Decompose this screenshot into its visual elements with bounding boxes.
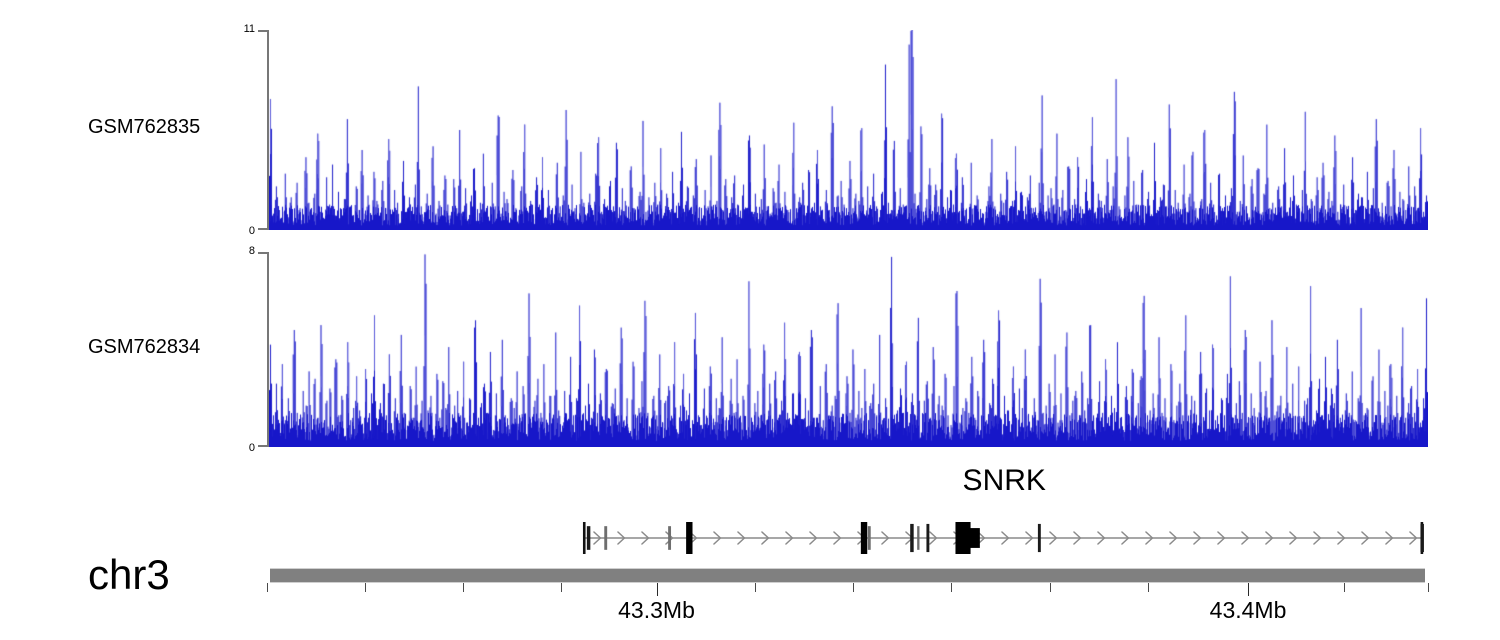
signal-track-gsm762835: 11 0 <box>267 30 1428 230</box>
track-label-gsm762835: GSM762835 <box>88 116 200 139</box>
gene-exon-block[interactable] <box>868 526 871 550</box>
track-y-axis-tick-top <box>258 252 269 254</box>
ruler-major-tick <box>657 583 658 596</box>
ruler-major-tick <box>1248 583 1249 596</box>
gene-exon-block[interactable] <box>910 524 913 552</box>
ruler-tick <box>267 583 268 592</box>
gene-annotation-track[interactable]: SNRK <box>267 468 1428 568</box>
track-y-axis-min-label: 0 <box>249 225 255 237</box>
track-y-axis-tick-top <box>258 30 269 32</box>
ruler-tick <box>463 583 464 592</box>
gene-exon-block[interactable] <box>917 526 919 550</box>
track-y-axis-tick-bottom <box>258 445 269 447</box>
ruler-tick <box>755 583 756 592</box>
gene-exon-block[interactable] <box>587 526 590 550</box>
ruler-tick <box>1428 583 1429 592</box>
gene-exon-block[interactable] <box>967 528 980 548</box>
gene-exon-block[interactable] <box>604 526 607 550</box>
track-y-axis-tick-bottom <box>258 228 269 230</box>
ruler-tick <box>853 583 854 592</box>
ruler-tick <box>365 583 366 592</box>
signal-track-gsm762834: 8 0 <box>267 252 1428 447</box>
track-y-axis-min-label: 0 <box>249 442 255 454</box>
gene-exon-block[interactable] <box>926 524 929 552</box>
gene-exon-block[interactable] <box>1038 524 1041 552</box>
track-label-gsm762834: GSM762834 <box>88 336 200 359</box>
coordinate-ruler: 43.3Mb43.4Mb <box>267 583 1428 640</box>
track-plot-area-gsm762835 <box>269 30 1428 230</box>
chromosome-ideogram-bar[interactable] <box>270 568 1425 583</box>
chromosome-label: chr3 <box>88 551 170 599</box>
gene-exon-block[interactable] <box>861 522 867 554</box>
gene-name-label[interactable]: SNRK <box>963 464 1046 498</box>
ruler-tick <box>1050 583 1051 592</box>
track-plot-area-gsm762834 <box>269 252 1428 447</box>
ruler-coordinate-label: 43.4Mb <box>1210 597 1287 624</box>
genome-browser-view: GSM762835 11 0 GSM762834 8 0 SNRK chr3 4… <box>0 0 1500 640</box>
signal-histogram-gsm762834 <box>269 252 1428 447</box>
ruler-tick <box>1344 583 1345 592</box>
ruler-tick <box>561 583 562 592</box>
ruler-coordinate-label: 43.3Mb <box>618 597 695 624</box>
ruler-tick <box>1148 583 1149 592</box>
signal-histogram-gsm762835 <box>269 30 1428 230</box>
gene-exon-block[interactable] <box>686 522 692 554</box>
track-y-axis-max-label: 11 <box>244 23 255 35</box>
gene-model-svg[interactable] <box>267 508 1428 564</box>
gene-exon-block[interactable] <box>1420 524 1423 552</box>
gene-exon-block[interactable] <box>668 526 671 550</box>
ruler-tick <box>951 583 952 592</box>
track-y-axis-max-label: 8 <box>249 245 255 257</box>
